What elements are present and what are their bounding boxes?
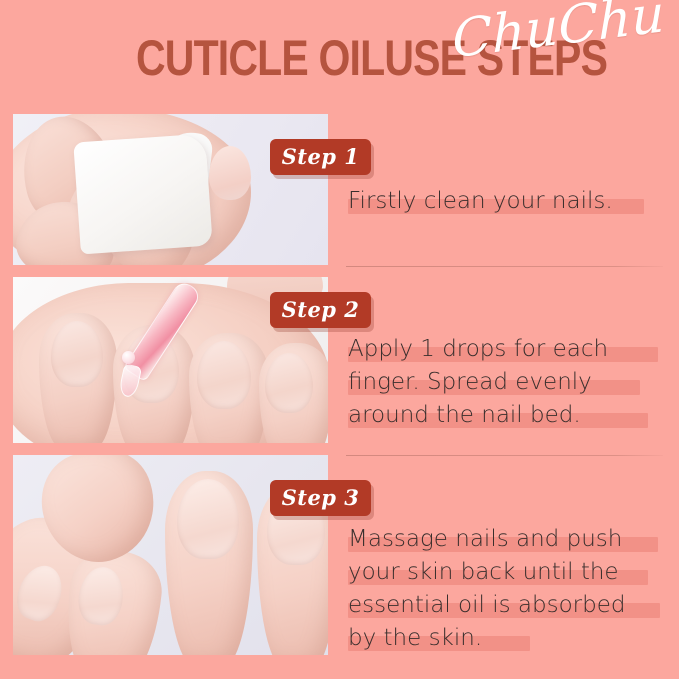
step-1-badge-label: Step 1 [270, 142, 371, 172]
step-2-line-1-text: Apply 1 drops for each [348, 334, 666, 365]
photo-3-nail-middle [177, 479, 239, 559]
step-3-line-4-text: by the skin. [348, 623, 666, 654]
step-1-line-1-text: Firstly clean your nails. [348, 186, 666, 217]
step-2-badge: Step 2 [270, 292, 371, 328]
step-2-badge-label: Step 2 [270, 295, 371, 325]
photo-2-nail-d [265, 353, 313, 413]
photo-1-nail [209, 146, 251, 200]
step-1-photo [13, 114, 328, 265]
step-2-line-2-text: finger. Spread evenly [348, 367, 666, 398]
step-3-badge: Step 3 [270, 480, 371, 516]
photo-2-nail-a [51, 321, 103, 387]
header-band: CUTICLE OILUSE STEPS ChuChu [0, 0, 679, 104]
step-3-line-4: by the skin. [348, 623, 666, 654]
step-2-line-3: around the nail bed. [348, 400, 666, 431]
step-1-badge: Step 1 [270, 139, 371, 175]
step-2-text-block: Apply 1 drops for each finger. Spread ev… [348, 334, 666, 433]
section-divider-1 [346, 266, 663, 267]
step-3-badge-label: Step 3 [270, 483, 371, 513]
step-2-line-2: finger. Spread evenly [348, 367, 666, 398]
photo-2-oil-drop [122, 351, 135, 364]
step-3-line-3-text: essential oil is absorbed [348, 590, 666, 621]
step-3-line-2: your skin back until the [348, 557, 666, 588]
step-2-line-1: Apply 1 drops for each [348, 334, 666, 365]
step-3-line-3: essential oil is absorbed [348, 590, 666, 621]
step-3-line-1: Massage nails and push [348, 524, 666, 555]
step-1-text-block: Firstly clean your nails. [348, 186, 666, 219]
photo-1-cotton-pad [73, 134, 212, 255]
step-3-line-2-text: your skin back until the [348, 557, 666, 588]
step-1-line-1: Firstly clean your nails. [348, 186, 666, 217]
step-2-line-3-text: around the nail bed. [348, 400, 666, 431]
photo-2-nail-c [197, 341, 251, 409]
section-divider-2 [346, 455, 663, 456]
step-3-line-1-text: Massage nails and push [348, 524, 666, 555]
step-3-text-block: Massage nails and push your skin back un… [348, 524, 666, 656]
brand-script-logo: ChuChu [452, 0, 665, 66]
